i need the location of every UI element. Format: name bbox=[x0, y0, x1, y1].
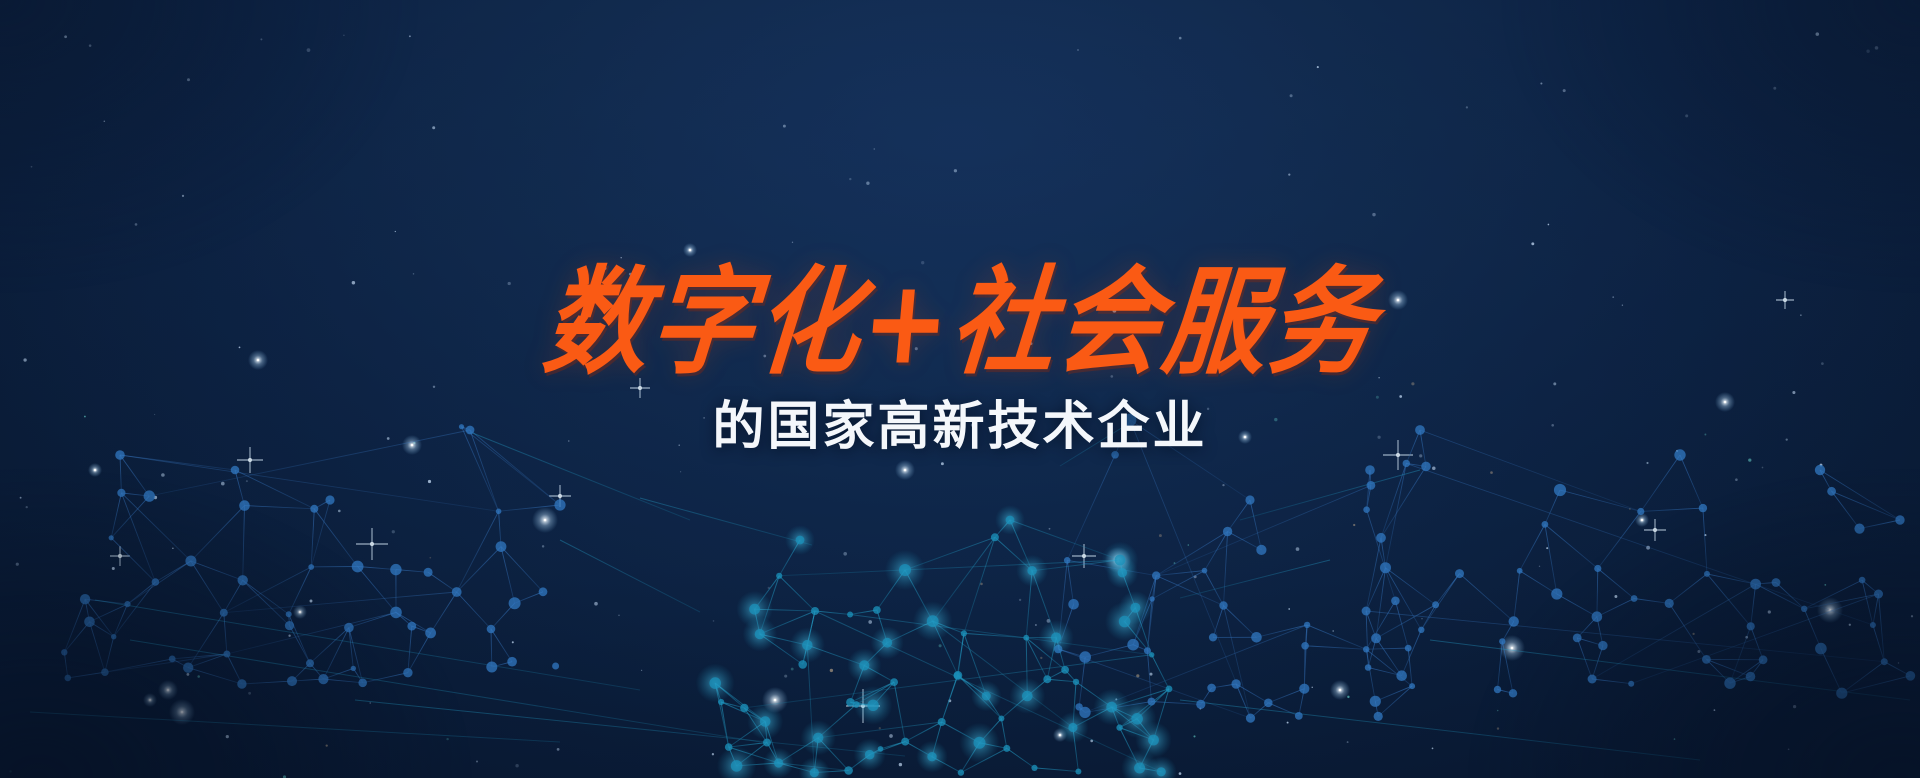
page-title: 数字化+社会服务 bbox=[0, 262, 1920, 383]
banner-text-block: 数字化+社会服务 的国家高新技术企业 bbox=[0, 268, 1920, 455]
hero-banner: 数字化+社会服务 的国家高新技术企业 bbox=[0, 0, 1920, 778]
